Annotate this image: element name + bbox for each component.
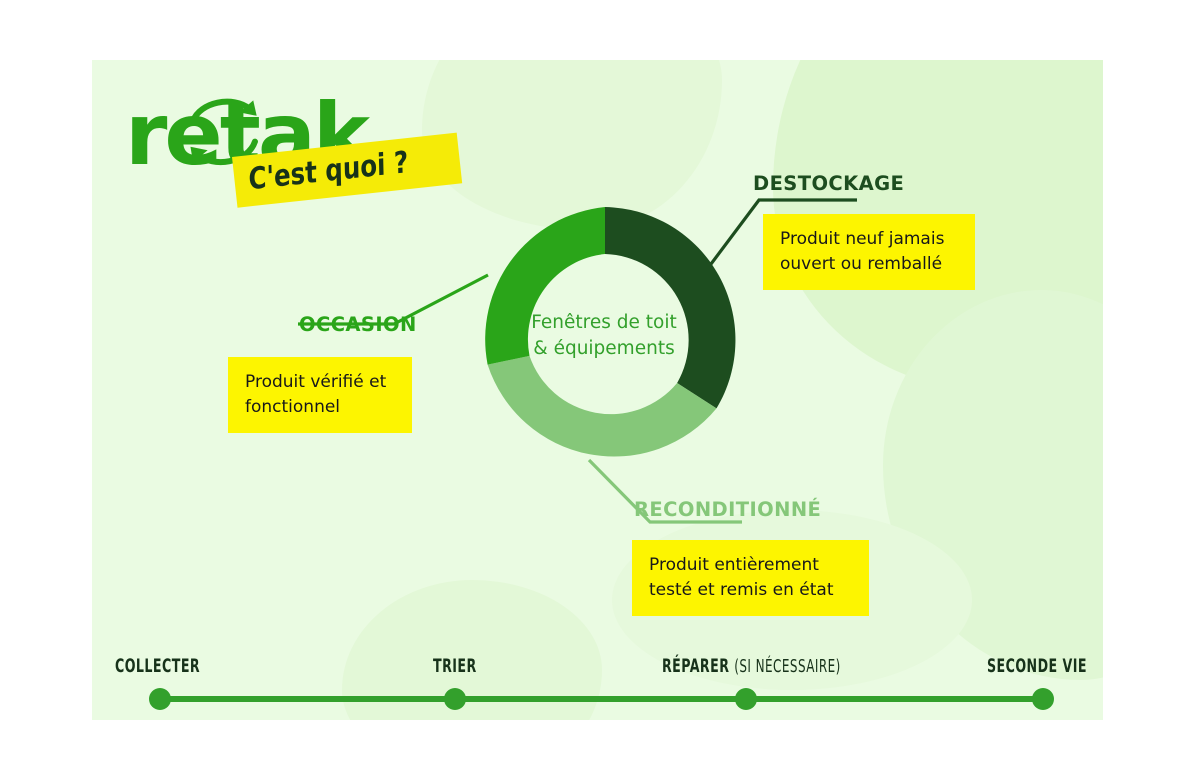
background-blob-icon [883,290,1103,680]
donut-center-label: Fenêtres de toit & équipements [493,310,715,361]
timeline-dot-reparer[interactable] [735,688,757,710]
callout-box-occasion: Produit vérifié et fonctionnel [228,357,412,433]
callout-text-reconditionne-line2: testé et remis en état [649,578,852,603]
donut-center-label-line2: & équipements [493,336,715,362]
callout-text-reconditionne-line1: Produit entièrement [649,553,852,578]
donut-center-label-line1: Fenêtres de toit [493,310,715,336]
timeline-label-seconde-vie: SECONDE VIE [987,655,1087,677]
donut-slice-reconditionne[interactable] [488,356,717,457]
infographic-root: retak C'est quoi ? Fenêtres de toit & éq… [0,0,1200,780]
process-timeline [110,686,1095,712]
callout-box-reconditionne: Produit entièrement testé et remis en ét… [632,540,869,616]
brand-tagline-text: C'est quoi ? [248,145,408,197]
timeline-label-trier-main: TRIER [433,655,477,677]
callout-label-occasion: OCCASION [299,313,417,336]
callout-text-destockage-line1: Produit neuf jamais [780,227,958,252]
callout-text-destockage-line2: ouvert ou remballé [780,252,958,277]
callout-text-occasion-line1: Produit vérifié et [245,370,395,395]
timeline-label-collecter-main: COLLECTER [115,655,200,677]
timeline-label-collecter: COLLECTER [115,655,200,677]
callout-text-occasion-line2: fonctionnel [245,395,395,420]
timeline-label-reparer: RÉPARER (SI NÉCESSAIRE) [662,655,841,677]
timeline-label-reparer-main: RÉPARER [662,655,729,677]
timeline-label-seconde-vie-main: SECONDE VIE [987,655,1087,677]
callout-label-reconditionne: RECONDITIONNÉ [634,498,821,521]
timeline-dot-seconde-vie[interactable] [1032,688,1054,710]
timeline-dot-collecter[interactable] [149,688,171,710]
timeline-dot-trier[interactable] [444,688,466,710]
timeline-label-reparer-sub: (SI NÉCESSAIRE) [734,656,841,677]
timeline-label-trier: TRIER [433,655,477,677]
callout-label-destockage: DESTOCKAGE [753,172,904,195]
donut-slice-destockage[interactable] [605,207,735,408]
callout-box-destockage: Produit neuf jamais ouvert ou remballé [763,214,975,290]
